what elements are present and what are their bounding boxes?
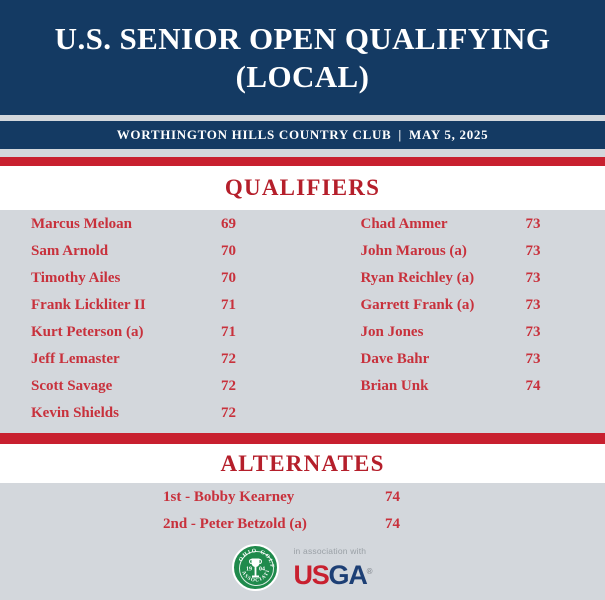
- usga-ga-text: GA: [329, 560, 367, 590]
- player-name: Brian Unk: [361, 378, 526, 395]
- table-row: Chad Ammer73: [361, 216, 605, 243]
- table-row: Jon Jones73: [361, 324, 605, 351]
- player-name: Frank Lickliter II: [31, 297, 221, 314]
- association-text: in association with: [293, 546, 372, 556]
- player-score: 71: [221, 297, 236, 314]
- qualifiers-table: Marcus Meloan69 Sam Arnold70 Timothy Ail…: [0, 210, 605, 433]
- player-score: 70: [221, 270, 236, 287]
- alternates-heading: ALTERNATES: [0, 444, 605, 483]
- alternates-rows: 1st - Bobby Kearney74 2nd - Peter Betzol…: [0, 483, 605, 543]
- table-row: Sam Arnold70: [31, 243, 303, 270]
- table-row: 1st - Bobby Kearney74: [163, 489, 605, 516]
- table-row: John Marous (a)73: [361, 243, 605, 270]
- alternates-red-rule: [0, 433, 605, 444]
- qualifiers-column-left: Marcus Meloan69 Sam Arnold70 Timothy Ail…: [0, 210, 303, 433]
- footer-logos: OHIO GOLF ASSOCIATION 19 04 in associati…: [0, 541, 605, 593]
- player-score: 73: [526, 270, 541, 287]
- usga-block: in association with USGA®: [293, 546, 372, 589]
- venue-date-text: WORTHINGTON HILLS COUNTRY CLUB|MAY 5, 20…: [117, 127, 489, 143]
- usga-logo-icon: USGA®: [293, 558, 372, 589]
- alternate-score: 74: [385, 489, 400, 506]
- table-row: Timothy Ailes70: [31, 270, 303, 297]
- player-name: Timothy Ailes: [31, 270, 221, 287]
- player-score: 74: [526, 378, 541, 395]
- player-score: 73: [526, 324, 541, 341]
- player-name: Chad Ammer: [361, 216, 526, 233]
- alternates-heading-text: ALTERNATES: [220, 451, 384, 477]
- venue-date-bar: WORTHINGTON HILLS COUNTRY CLUB|MAY 5, 20…: [0, 121, 605, 149]
- venue-name: WORTHINGTON HILLS COUNTRY CLUB: [117, 127, 392, 142]
- qualifying-results-poster: U.S. SENIOR OPEN QUALIFYING (LOCAL) WORT…: [0, 0, 605, 600]
- table-row: Frank Lickliter II71: [31, 297, 303, 324]
- qualifiers-red-rule: [0, 157, 605, 166]
- table-row: 2nd - Peter Betzold (a)74: [163, 516, 605, 543]
- player-score: 73: [526, 216, 541, 233]
- page-title-line-1: U.S. SENIOR OPEN QUALIFYING: [55, 20, 551, 58]
- event-date: MAY 5, 2025: [409, 127, 488, 142]
- usga-us-text: US: [293, 560, 328, 590]
- venue-date-separator: |: [391, 127, 409, 143]
- registered-mark: ®: [367, 567, 373, 576]
- player-name: Dave Bahr: [361, 351, 526, 368]
- table-row: Scott Savage72: [31, 378, 303, 405]
- qualifiers-heading-text: QUALIFIERS: [225, 175, 380, 201]
- player-name: Jeff Lemaster: [31, 351, 221, 368]
- page-title-line-2: (LOCAL): [236, 58, 370, 96]
- player-score: 72: [221, 351, 236, 368]
- player-score: 69: [221, 216, 236, 233]
- player-name: Kurt Peterson (a): [31, 324, 221, 341]
- player-name: Marcus Meloan: [31, 216, 221, 233]
- table-row: Brian Unk74: [361, 378, 605, 405]
- player-score: 72: [221, 378, 236, 395]
- player-name: Jon Jones: [361, 324, 526, 341]
- player-score: 73: [526, 297, 541, 314]
- seal-artwork: OHIO GOLF ASSOCIATION 19 04: [234, 546, 277, 589]
- qualifiers-heading: QUALIFIERS: [0, 166, 605, 210]
- table-row: Kevin Shields72: [31, 405, 303, 432]
- header-banner: U.S. SENIOR OPEN QUALIFYING (LOCAL): [0, 0, 605, 115]
- player-name: John Marous (a): [361, 243, 526, 260]
- player-name: Kevin Shields: [31, 405, 221, 422]
- player-name: Sam Arnold: [31, 243, 221, 260]
- player-name: Garrett Frank (a): [361, 297, 526, 314]
- table-row: Ryan Reichley (a)73: [361, 270, 605, 297]
- player-score: 72: [221, 405, 236, 422]
- player-score: 73: [526, 243, 541, 260]
- player-score: 70: [221, 243, 236, 260]
- ohio-golf-association-logo-icon: OHIO GOLF ASSOCIATION 19 04: [232, 544, 279, 591]
- qualifiers-column-right: Chad Ammer73 John Marous (a)73 Ryan Reic…: [303, 210, 605, 433]
- alternate-score: 74: [385, 516, 400, 533]
- table-row: Garrett Frank (a)73: [361, 297, 605, 324]
- player-name: Scott Savage: [31, 378, 221, 395]
- seal-year-right: 04: [259, 566, 265, 572]
- qualifiers-rule-gap: [0, 149, 605, 157]
- table-row: Kurt Peterson (a)71: [31, 324, 303, 351]
- player-score: 71: [221, 324, 236, 341]
- player-score: 73: [526, 351, 541, 368]
- alternate-name: 1st - Bobby Kearney: [163, 489, 385, 506]
- table-row: Dave Bahr73: [361, 351, 605, 378]
- table-row: Jeff Lemaster72: [31, 351, 303, 378]
- table-row: Marcus Meloan69: [31, 216, 303, 243]
- seal-year-left: 19: [246, 566, 252, 572]
- alternate-name: 2nd - Peter Betzold (a): [163, 516, 385, 533]
- player-name: Ryan Reichley (a): [361, 270, 526, 287]
